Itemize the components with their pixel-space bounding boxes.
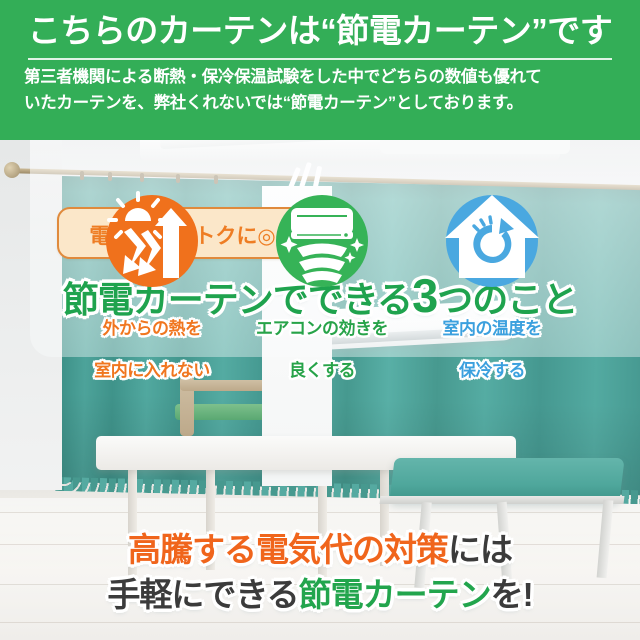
feature-label-line2: 保冷する [392,360,592,381]
subtitle-line2-emphasis: “節電カーテン” [283,94,396,112]
header-subtitle-line2: いたカーテンを、弊社くれないでは“節電カーテン”としております。 [24,90,616,116]
page-title: こちらのカーテンは“節電カーテン”です [0,6,640,56]
house-temperature-icon-svg [441,190,543,292]
bottom-line2-emphasis: 節電カーテン [299,576,491,613]
header-divider [28,58,612,60]
bottom-line2-pre: 手軽にできる [107,576,298,613]
air-conditioner-icon-svg [271,190,373,292]
header-title-pre: こちらのカーテンは [28,12,321,49]
bottom-line1-emphasis: 高騰する電気代の対策 [128,531,448,568]
subtitle-line2-pre: いたカーテンを、弊社くれないでは [24,94,283,112]
feature-label-temperature-retention: 室内の温度を 保冷する [392,297,592,402]
air-conditioner-icon [271,190,373,292]
header-banner: こちらのカーテンは“節電カーテン”です 第三者機関による断熱・保冷保温試験をした… [0,0,640,140]
header-subtitle-line1: 第三者機関による断熱・保冷保温試験をした中でどちらの数値も優れて [24,64,616,90]
bottom-headline-line2: 手軽にできる節電カーテンを! [0,572,640,617]
header-title-post: です [547,12,612,49]
feature-label-line1: 室内の温度を [392,318,592,339]
floor-plank-line [0,622,640,623]
sun-heat-block-icon [101,190,203,292]
feature-item-temperature-retention: 室内の温度を 保冷する [392,190,592,402]
bottom-headline: 高騰する電気代の対策には 手軽にできる節電カーテンを! [0,527,640,617]
sun-heat-block-icon-svg [101,190,203,292]
bottom-line1-rest: には [448,531,512,568]
header-title-emphasis: “節電カーテン” [320,12,547,49]
bottom-line2-post: を! [491,576,533,613]
subtitle-line2-post: としております。 [396,94,523,112]
product-ad-banner: こちらのカーテンは“節電カーテン”です 第三者機関による断熱・保冷保温試験をした… [0,0,640,640]
house-temperature-icon [441,190,543,292]
bottom-headline-line1: 高騰する電気代の対策には [0,527,640,572]
header-subtitle: 第三者機関による断熱・保冷保温試験をした中でどちらの数値も優れて いたカーテンを… [24,64,616,116]
